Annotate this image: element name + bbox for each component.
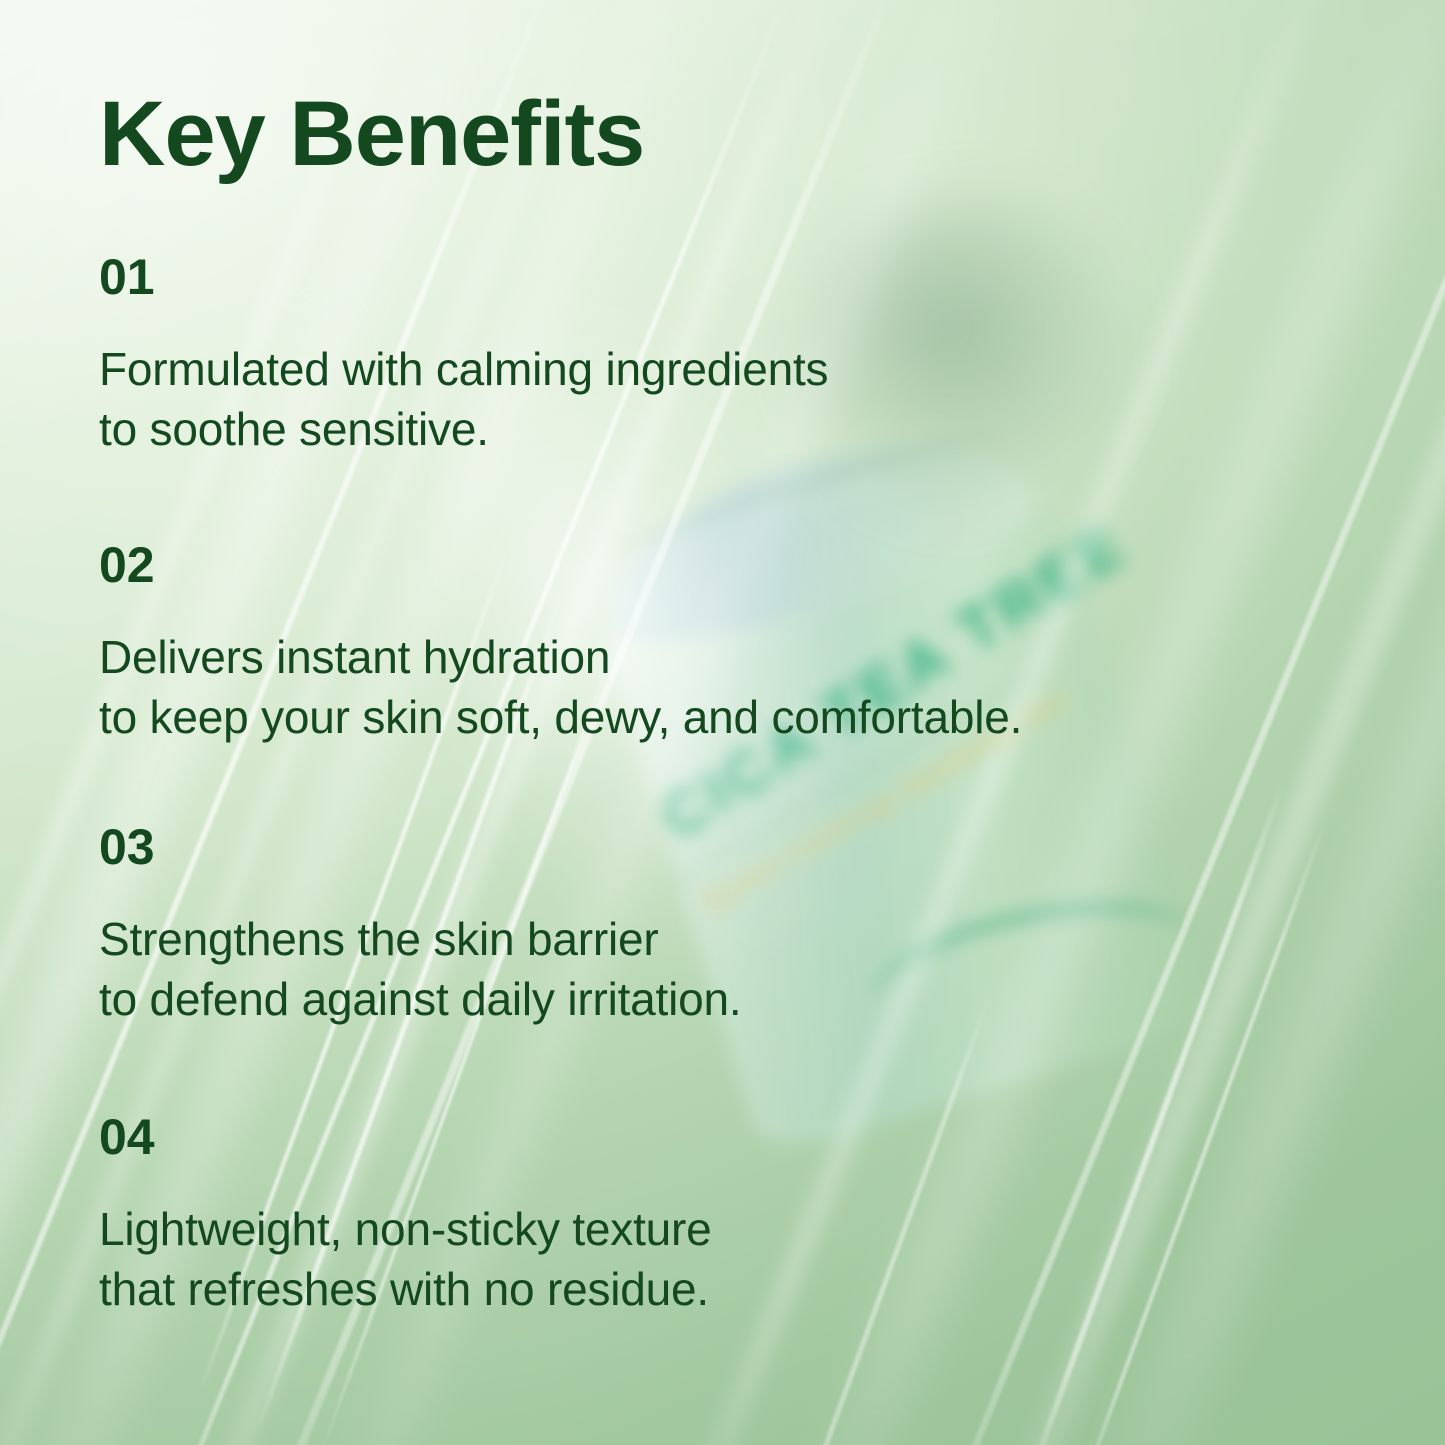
- key-benefits-graphic: CICA TEA TREE Quick Calming Soothing Gel…: [0, 0, 1445, 1445]
- benefit-number: 01: [99, 252, 828, 302]
- page-title: Key Benefits: [99, 88, 644, 180]
- benefit-text-line1: Delivers instant hydration: [99, 628, 1022, 688]
- content-layer: Key Benefits 01 Formulated with calming …: [0, 0, 1445, 1445]
- benefit-number: 04: [99, 1112, 712, 1162]
- benefit-number: 02: [99, 540, 1022, 590]
- benefit-number: 03: [99, 822, 742, 872]
- benefit-text-line1: Formulated with calming ingredients: [99, 340, 828, 400]
- benefit-text-line1: Strengthens the skin barrier: [99, 910, 742, 970]
- benefit-text-line2: to defend against daily irritation.: [99, 970, 742, 1030]
- benefit-text-line2: that refreshes with no residue.: [99, 1260, 712, 1320]
- benefit-text-line2: to soothe sensitive.: [99, 400, 828, 460]
- benefit-item-01: 01 Formulated with calming ingredients t…: [99, 252, 828, 460]
- benefit-item-02: 02 Delivers instant hydration to keep yo…: [99, 540, 1022, 748]
- benefit-text-line1: Lightweight, non-sticky texture: [99, 1200, 712, 1260]
- benefit-item-04: 04 Lightweight, non-sticky texture that …: [99, 1112, 712, 1320]
- benefit-item-03: 03 Strengthens the skin barrier to defen…: [99, 822, 742, 1030]
- benefit-text-line2: to keep your skin soft, dewy, and comfor…: [99, 688, 1022, 748]
